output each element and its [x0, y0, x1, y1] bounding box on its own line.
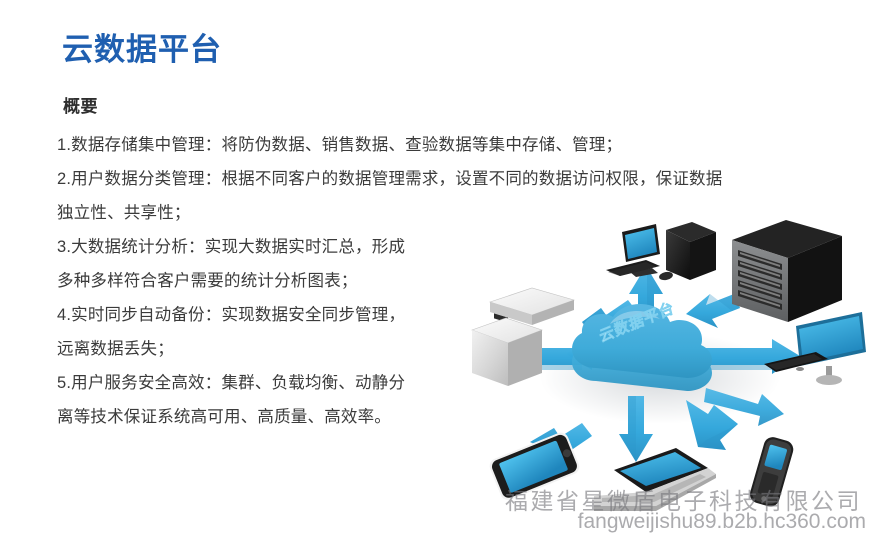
- overview-line: 1.数据存储集中管理：将防伪数据、销售数据、查验数据等集中存储、管理；: [57, 128, 857, 162]
- page-title: 云数据平台: [62, 24, 222, 69]
- overview-line: 2.用户数据分类管理：根据不同客户的数据管理需求，设置不同的数据访问权限，保证数…: [57, 162, 857, 196]
- server-box-cube: [472, 318, 542, 386]
- cloud-data-platform-diagram: 云数据平台: [470, 218, 880, 535]
- handheld: [748, 435, 796, 509]
- arrow-up-right: [686, 294, 740, 328]
- laptop: [594, 448, 716, 511]
- server-rack: [732, 220, 842, 322]
- section-heading-overview: 概要: [63, 92, 98, 117]
- desktop-pc: [606, 222, 716, 281]
- slide-canvas: 云数据平台 概要 1.数据存储集中管理：将防伪数据、销售数据、查验数据等集中存储…: [0, 0, 880, 535]
